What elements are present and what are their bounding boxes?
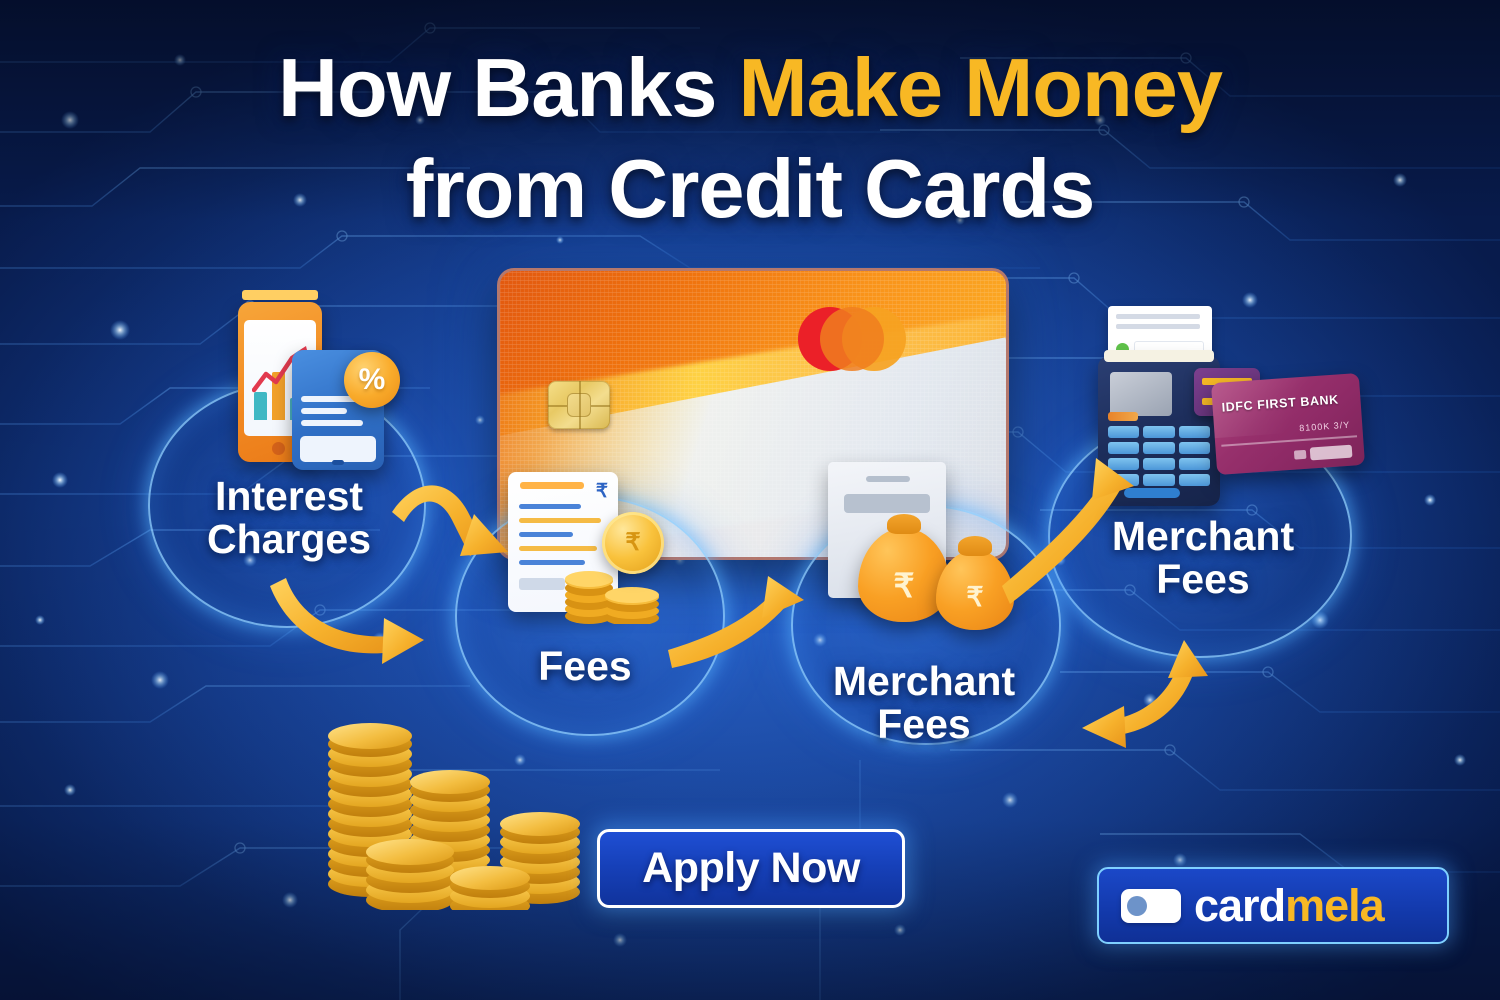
- logo-wordmark: cardmela: [1194, 880, 1384, 932]
- rupee-symbol-bag-b: ₹: [936, 582, 1014, 613]
- logo-text-mela: mela: [1285, 880, 1384, 931]
- emv-chip-icon: [548, 381, 610, 429]
- pos-display-screen: [1110, 372, 1172, 416]
- large-gold-coin-icon: ₹: [602, 512, 664, 574]
- rupee-symbol: ₹: [596, 480, 608, 503]
- card-number-label: 8100K 3/Y: [1299, 420, 1351, 434]
- idfc-first-bank-card: IDFC FIRST BANK 8100K 3/Y: [1211, 373, 1365, 475]
- percent-badge-icon: %: [344, 352, 400, 408]
- pos-keypad: [1108, 426, 1210, 486]
- apply-now-button[interactable]: Apply Now: [597, 829, 905, 908]
- infographic-canvas: How Banks Make Money from Credit Cards: [0, 0, 1500, 1000]
- pos-terminal-card-icon: IDFC FIRST BANK 8100K 3/Y: [1090, 306, 1340, 506]
- card-chip-logo-icon: [1121, 889, 1181, 923]
- smartphone-growth-chart-percent-icon: %: [232, 296, 398, 472]
- gold-coin-stacks: [322, 694, 604, 910]
- coin-stack-small-icon-2: [604, 568, 660, 624]
- apply-now-label: Apply Now: [642, 844, 860, 893]
- money-bag-icon-small: ₹: [936, 550, 1014, 630]
- money-bags-receipt-icon: ₹ ₹: [824, 462, 1024, 652]
- logo-text-card: card: [1194, 880, 1285, 931]
- mastercard-logo: [798, 307, 906, 371]
- cardmela-logo[interactable]: cardmela: [1097, 867, 1449, 944]
- invoice-coins-icon: ₹: [508, 472, 678, 642]
